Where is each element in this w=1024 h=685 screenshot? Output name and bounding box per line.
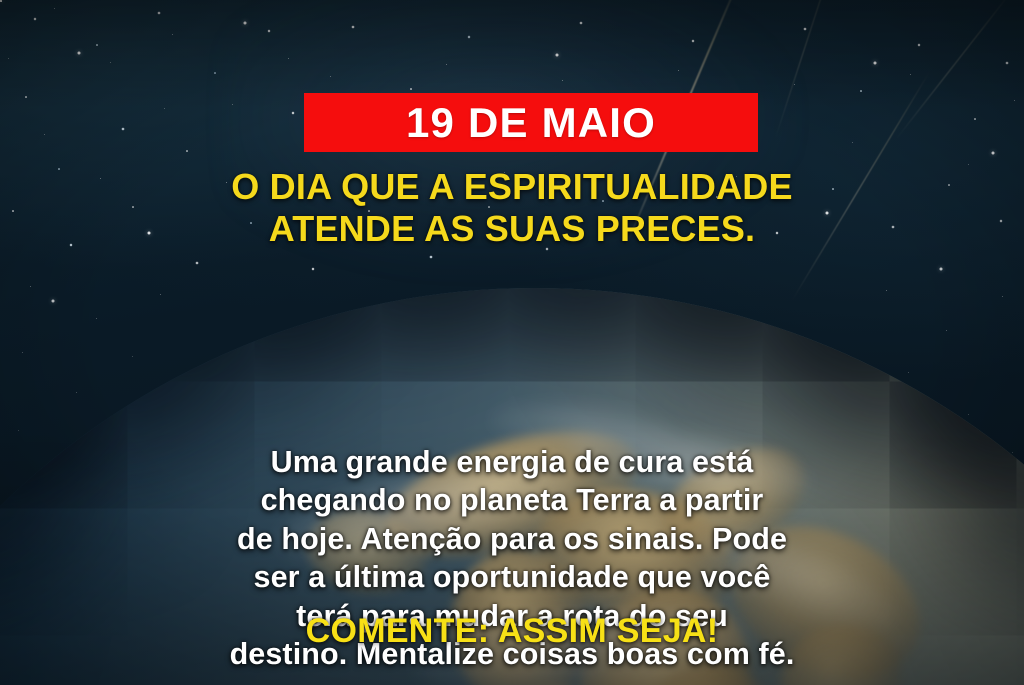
- date-banner-label: 19 DE MAIO: [406, 102, 656, 144]
- poster-content: 19 DE MAIO O DIA QUE A ESPIRITUALIDADE A…: [0, 0, 1024, 685]
- headline-line-1: O DIA QUE A ESPIRITUALIDADE: [0, 166, 1024, 208]
- body-line-1: Uma grande energia de cura está: [0, 443, 1024, 481]
- poster-canvas: 19 DE MAIO O DIA QUE A ESPIRITUALIDADE A…: [0, 0, 1024, 685]
- call-to-action-text: COMENTE: ASSIM SEJA!: [0, 613, 1024, 650]
- body-line-3: de hoje. Atenção para os sinais. Pode: [0, 520, 1024, 558]
- headline: O DIA QUE A ESPIRITUALIDADE ATENDE AS SU…: [0, 166, 1024, 251]
- date-banner: 19 DE MAIO: [304, 93, 758, 152]
- body-line-2: chegando no planeta Terra a partir: [0, 481, 1024, 519]
- body-line-4: ser a última oportunidade que você: [0, 558, 1024, 596]
- headline-line-2: ATENDE AS SUAS PRECES.: [0, 208, 1024, 250]
